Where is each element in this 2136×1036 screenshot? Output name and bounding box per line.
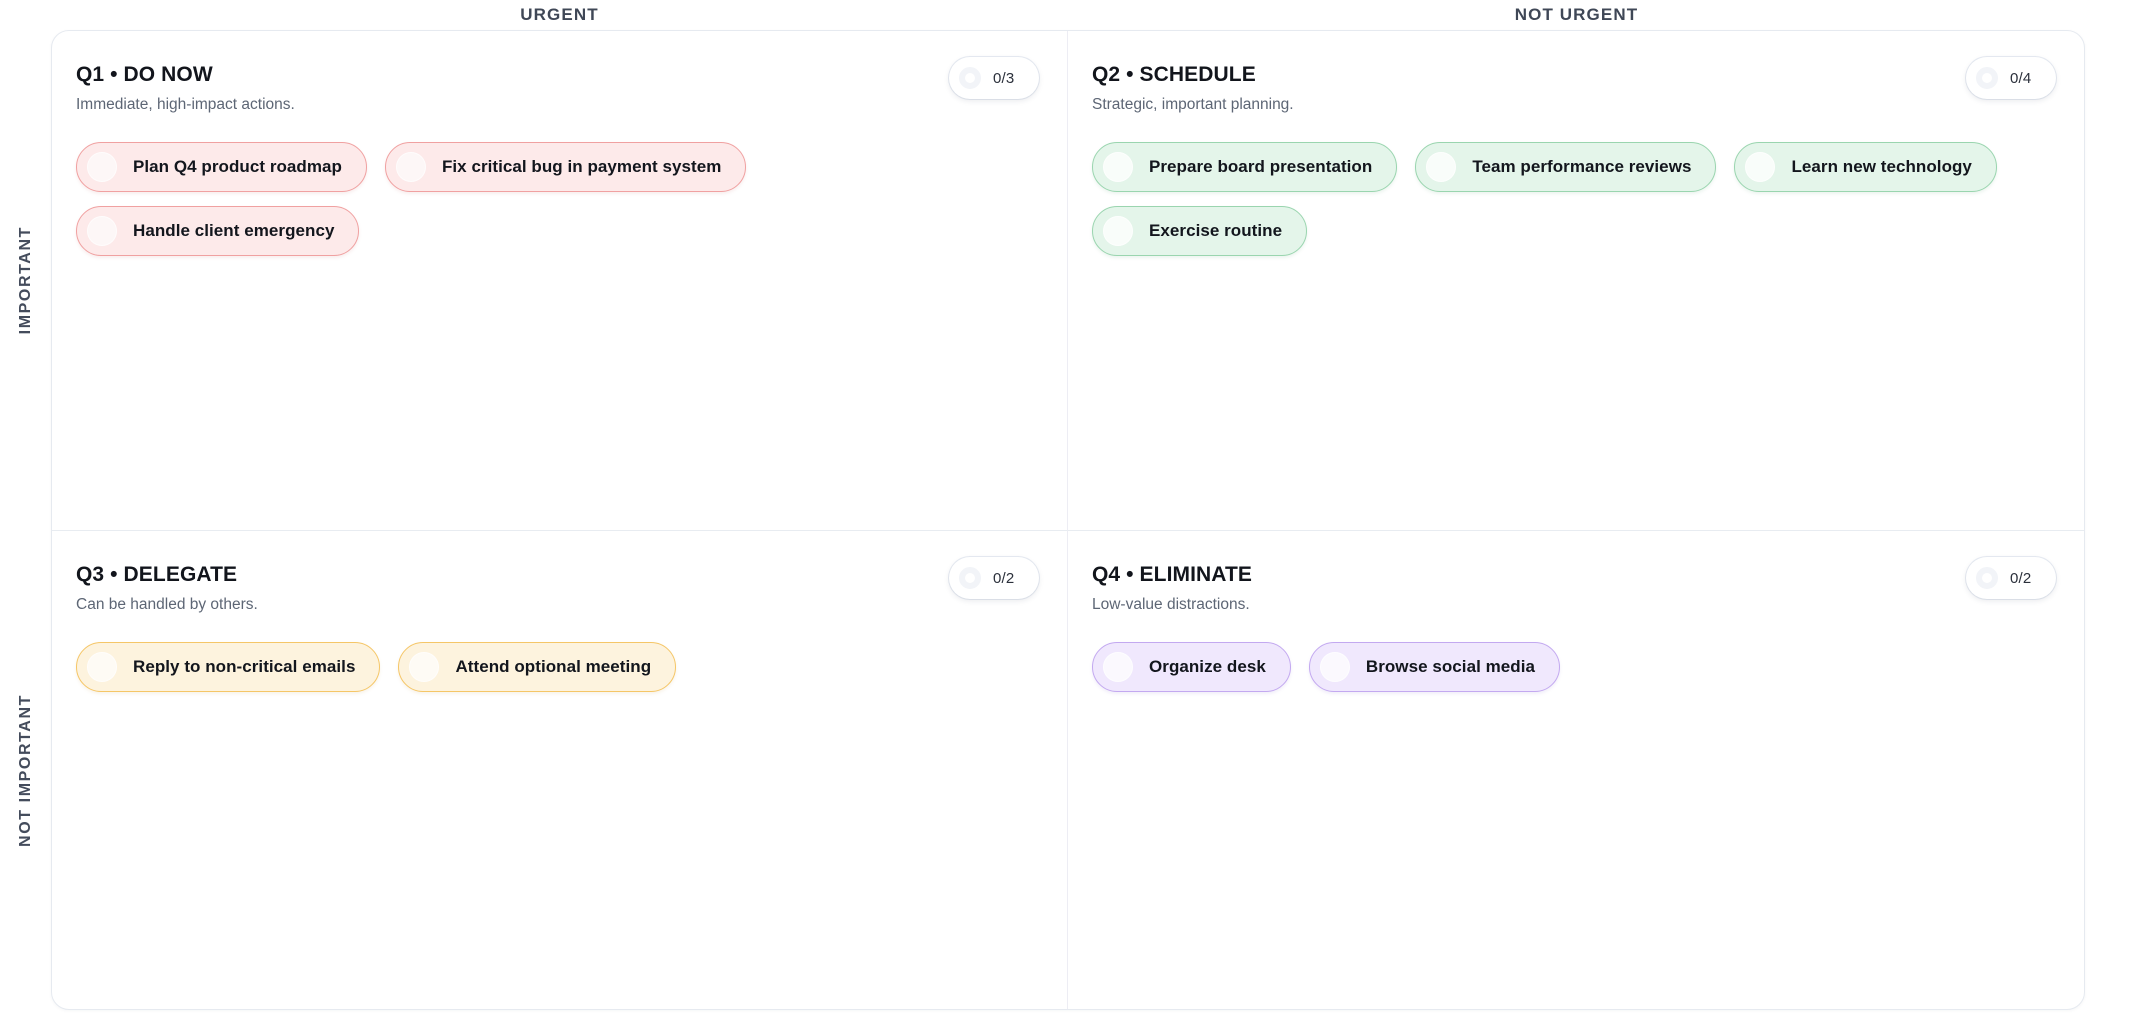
progress-ring-icon: [959, 567, 981, 589]
row-label-important: IMPORTANT: [0, 30, 52, 530]
quadrant-q3-counter-text: 0/2: [993, 570, 1014, 587]
task-checkbox-icon[interactable]: [87, 216, 117, 246]
quadrant-q4-subtitle: Low-value distractions.: [1092, 596, 2048, 614]
task-label: Prepare board presentation: [1149, 157, 1372, 177]
progress-ring-icon: [959, 67, 981, 89]
task-checkbox-icon[interactable]: [396, 152, 426, 182]
quadrant-q4-title: Q4 • ELIMINATE: [1092, 563, 2048, 587]
task-chip[interactable]: Plan Q4 product roadmap: [76, 142, 367, 192]
quadrant-q1-counter-text: 0/3: [993, 70, 1014, 87]
task-label: Team performance reviews: [1472, 157, 1691, 177]
row-label-important-text: IMPORTANT: [17, 226, 35, 334]
task-chip[interactable]: Fix critical bug in payment system: [385, 142, 746, 192]
task-label: Browse social media: [1366, 657, 1535, 677]
task-chip[interactable]: Handle client emergency: [76, 206, 359, 256]
quadrant-q2-counter-text: 0/4: [2010, 70, 2031, 87]
column-header-not-urgent: NOT URGENT: [1068, 0, 2085, 30]
task-chip[interactable]: Organize desk: [1092, 642, 1291, 692]
task-label: Learn new technology: [1791, 157, 1971, 177]
task-chip[interactable]: Reply to non-critical emails: [76, 642, 380, 692]
task-label: Attend optional meeting: [455, 657, 651, 677]
quadrant-q4-counter-badge[interactable]: 0/2: [1966, 557, 2056, 599]
task-checkbox-icon[interactable]: [87, 652, 117, 682]
task-label: Reply to non-critical emails: [133, 657, 355, 677]
quadrant-q1-counter-badge[interactable]: 0/3: [949, 57, 1039, 99]
quadrant-q3-subtitle: Can be handled by others.: [76, 596, 1031, 614]
column-headers: URGENT NOT URGENT: [51, 0, 2085, 30]
quadrant-q3-task-list: Reply to non-critical emailsAttend optio…: [76, 642, 1031, 692]
task-checkbox-icon[interactable]: [409, 652, 439, 682]
task-chip[interactable]: Browse social media: [1309, 642, 1560, 692]
quadrant-q3-counter-badge[interactable]: 0/2: [949, 557, 1039, 599]
quadrant-q4-counter-text: 0/2: [2010, 570, 2031, 587]
quadrant-q3-title: Q3 • DELEGATE: [76, 563, 1031, 587]
task-chip[interactable]: Learn new technology: [1734, 142, 1996, 192]
matrix-card: Q1 • DO NOW Immediate, high-impact actio…: [51, 30, 2085, 1010]
task-checkbox-icon[interactable]: [87, 152, 117, 182]
task-checkbox-icon[interactable]: [1103, 216, 1133, 246]
task-label: Exercise routine: [1149, 221, 1282, 241]
task-checkbox-icon[interactable]: [1103, 152, 1133, 182]
progress-ring-icon: [1976, 67, 1998, 89]
quadrant-q2-task-list: Prepare board presentationTeam performan…: [1092, 142, 2048, 256]
column-header-urgent: URGENT: [51, 0, 1068, 30]
quadrant-q2-counter-badge[interactable]: 0/4: [1966, 57, 2056, 99]
task-label: Fix critical bug in payment system: [442, 157, 721, 177]
quadrant-q2-subtitle: Strategic, important planning.: [1092, 96, 2048, 114]
quadrant-q2: Q2 • SCHEDULE Strategic, important plann…: [1068, 31, 2084, 531]
task-label: Handle client emergency: [133, 221, 334, 241]
row-label-not-important-text: NOT IMPORTANT: [17, 694, 35, 847]
quadrant-q1-task-list: Plan Q4 product roadmapFix critical bug …: [76, 142, 1031, 256]
task-label: Plan Q4 product roadmap: [133, 157, 342, 177]
row-label-not-important: NOT IMPORTANT: [0, 530, 52, 1010]
task-chip[interactable]: Exercise routine: [1092, 206, 1307, 256]
task-chip[interactable]: Prepare board presentation: [1092, 142, 1397, 192]
quadrant-q4-task-list: Organize deskBrowse social media: [1092, 642, 2048, 692]
quadrant-q1-title: Q1 • DO NOW: [76, 63, 1031, 87]
task-chip[interactable]: Attend optional meeting: [398, 642, 676, 692]
task-checkbox-icon[interactable]: [1426, 152, 1456, 182]
task-label: Organize desk: [1149, 657, 1266, 677]
eisenhower-matrix-app: URGENT NOT URGENT IMPORTANT NOT IMPORTAN…: [0, 0, 2136, 1036]
progress-ring-icon: [1976, 567, 1998, 589]
task-checkbox-icon[interactable]: [1103, 652, 1133, 682]
task-checkbox-icon[interactable]: [1745, 152, 1775, 182]
quadrant-q1: Q1 • DO NOW Immediate, high-impact actio…: [52, 31, 1068, 531]
task-checkbox-icon[interactable]: [1320, 652, 1350, 682]
quadrant-q3: Q3 • DELEGATE Can be handled by others. …: [52, 531, 1068, 1010]
task-chip[interactable]: Team performance reviews: [1415, 142, 1716, 192]
quadrant-q1-subtitle: Immediate, high-impact actions.: [76, 96, 1031, 114]
quadrant-q4: Q4 • ELIMINATE Low-value distractions. 0…: [1068, 531, 2084, 1010]
quadrant-q2-title: Q2 • SCHEDULE: [1092, 63, 2048, 87]
